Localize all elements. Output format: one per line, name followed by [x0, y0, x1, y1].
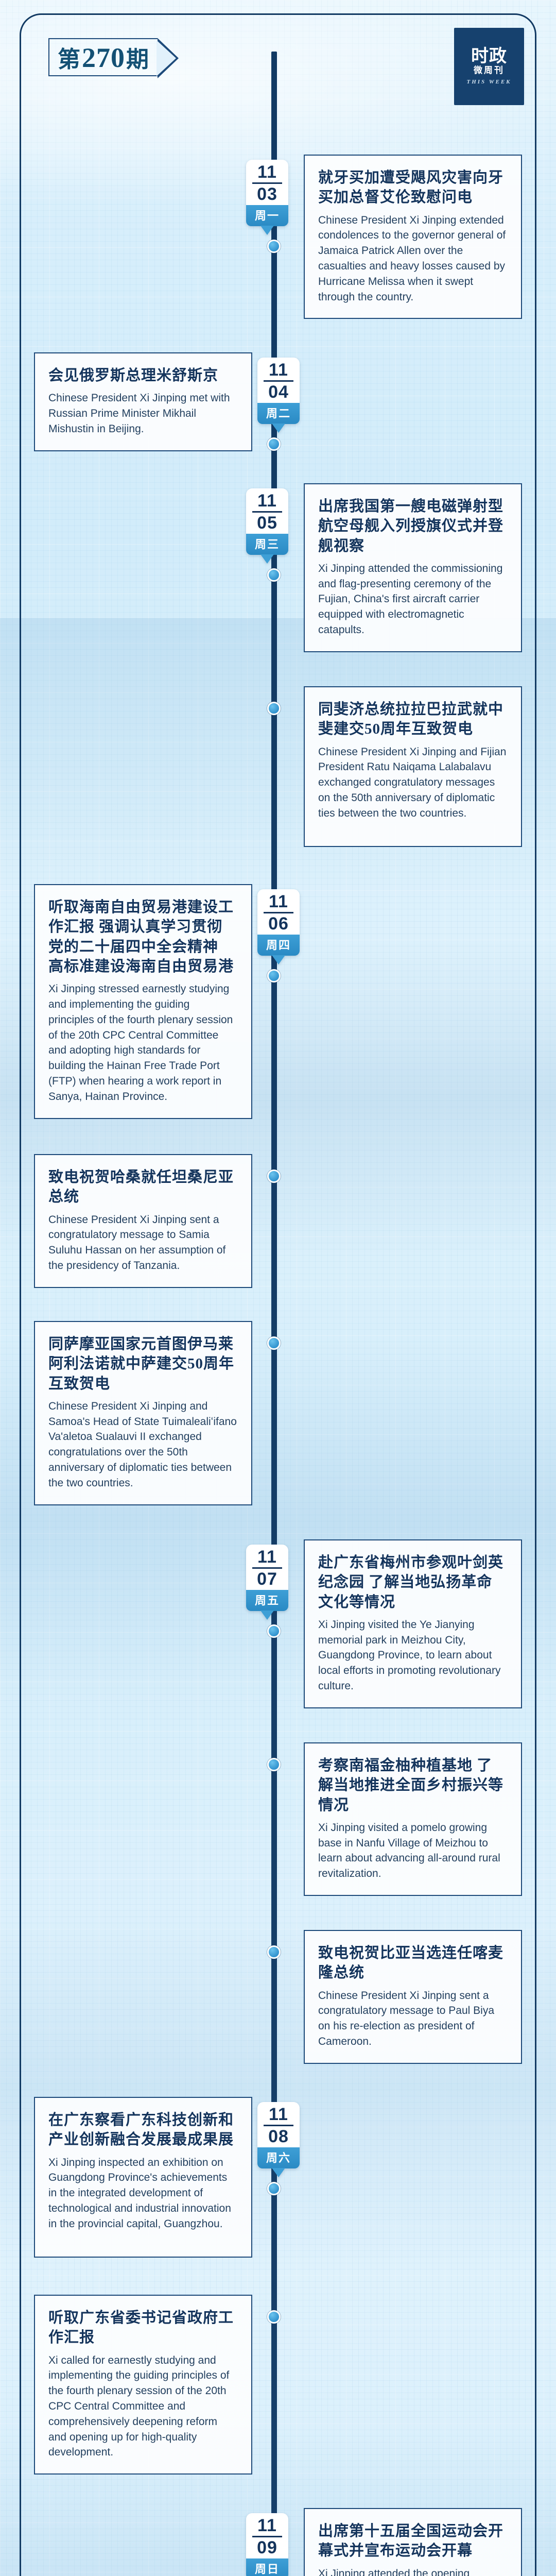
issue-prefix: 第: [58, 41, 81, 74]
card-title-cn: 赴广东省梅州市参观叶剑英纪念园 了解当地弘扬革命文化等情况: [318, 1553, 508, 1612]
date-divider: [252, 2536, 282, 2537]
date-chip-top: 1106: [257, 889, 300, 935]
timeline-node-dot: [267, 240, 281, 253]
issue-number: 270: [82, 42, 125, 74]
date-divider: [252, 1567, 282, 1569]
logo-english: THIS WEEK: [466, 79, 511, 85]
date-chip-pointer-icon: [260, 554, 274, 564]
card-title-cn: 致电祝贺比亚当选连任喀麦隆总统: [318, 1943, 508, 1983]
card-title-cn: 同斐济总统拉拉巴拉武就中斐建交50周年互致贺电: [318, 700, 508, 739]
date-weekday: 周四: [257, 935, 300, 956]
date-chip-top: 1105: [246, 488, 288, 534]
timeline-entry: 会见俄罗斯总理米舒斯京Chinese President Xi Jinping …: [0, 352, 556, 482]
date-month: 11: [246, 2517, 288, 2534]
timeline-card[interactable]: 考察南福金柚种植基地 了解当地推进全面乡村振兴等情况Xi Jinping vis…: [304, 1742, 522, 1896]
timeline-entry: 出席我国第一艘电磁弹射型航空母舰入列授旗仪式并登舰视察Xi Jinping at…: [0, 483, 556, 685]
card-body-en: Chinese President Xi Jinping and Fijian …: [318, 744, 508, 821]
issue-badge: 第270期: [48, 38, 158, 76]
date-chip: 1107周五: [246, 1545, 288, 1611]
card-body-en: Xi called for earnestly studying and imp…: [48, 2353, 238, 2461]
date-month: 11: [246, 492, 288, 510]
date-chip-pointer-icon: [272, 955, 285, 964]
timeline-node-dot: [267, 1336, 281, 1350]
card-body-en: Xi Jinping attended the commissioning an…: [318, 561, 508, 638]
timeline-node-dot: [267, 969, 281, 982]
timeline-node-dot: [267, 437, 281, 451]
date-chip: 1105周三: [246, 488, 288, 555]
card-body-en: Chinese President Xi Jinping met with Ru…: [48, 391, 238, 436]
card-body-en: Xi Jinping visited the Ye Jianying memor…: [318, 1617, 508, 1694]
timeline-card[interactable]: 赴广东省梅州市参观叶剑英纪念园 了解当地弘扬革命文化等情况Xi Jinping …: [304, 1539, 522, 1708]
date-day: 04: [257, 383, 300, 401]
logo-line-1: 时政: [471, 47, 507, 66]
card-body-en: Chinese President Xi Jinping sent a cong…: [48, 1212, 238, 1274]
timeline-card[interactable]: 就牙买加遭受飓风灾害向牙买加总督艾伦致慰问电Chinese President …: [304, 155, 522, 319]
timeline-node-dot: [267, 1945, 281, 1959]
brand-logo: 时政 微周刊 THIS WEEK: [454, 28, 524, 105]
card-body-en: Xi Jinping visited a pomelo growing base…: [318, 1820, 508, 1882]
issue-label: 第270期: [58, 41, 149, 74]
timeline-node-dot: [267, 1624, 281, 1638]
date-day: 05: [246, 514, 288, 532]
card-body-en: Xi Jinping stressed earnestly studying a…: [48, 981, 238, 1105]
date-month: 11: [257, 361, 300, 379]
logo-line-2: 微周刊: [471, 66, 507, 76]
date-day: 08: [257, 2128, 300, 2145]
date-chip-top: 1104: [257, 358, 300, 403]
card-body-en: Chinese President Xi Jinping sent a cong…: [318, 1988, 508, 2049]
date-weekday: 周三: [246, 534, 288, 555]
date-divider: [252, 511, 282, 513]
timeline-node-dot: [267, 2182, 281, 2195]
date-chip-pointer-icon: [272, 2168, 285, 2177]
date-divider: [264, 380, 293, 382]
timeline-entry: 致电祝贺哈桑就任坦桑尼亚总统Chinese President Xi Jinpi…: [0, 1154, 556, 1320]
timeline-card[interactable]: 同斐济总统拉拉巴拉武就中斐建交50周年互致贺电Chinese President…: [304, 686, 522, 847]
timeline-entry: 同斐济总统拉拉巴拉武就中斐建交50周年互致贺电Chinese President…: [0, 686, 556, 883]
timeline-card[interactable]: 致电祝贺比亚当选连任喀麦隆总统Chinese President Xi Jinp…: [304, 1930, 522, 2064]
card-body-en: Chinese President Xi Jinping extended co…: [318, 213, 508, 305]
timeline-card[interactable]: 听取海南自由贸易港建设工作汇报 强调认真学习贯彻党的二十届四中全会精神 高标准建…: [34, 884, 252, 1119]
date-chip-top: 1108: [257, 2102, 300, 2147]
timeline-card[interactable]: 在广东察看广东科技创新和产业创新融合发展最成果展Xi Jinping inspe…: [34, 2097, 252, 2258]
issue-suffix: 期: [126, 41, 149, 74]
date-chip-top: 1107: [246, 1545, 288, 1590]
timeline-card[interactable]: 致电祝贺哈桑就任坦桑尼亚总统Chinese President Xi Jinpi…: [34, 1154, 252, 1288]
date-weekday: 周五: [246, 1590, 288, 1611]
date-chip: 1108周六: [257, 2102, 300, 2168]
card-title-cn: 就牙买加遭受飓风灾害向牙买加总督艾伦致慰问电: [318, 168, 508, 208]
date-day: 09: [246, 2539, 288, 2556]
date-weekday: 周二: [257, 403, 300, 424]
date-weekday: 周六: [257, 2147, 300, 2168]
card-body-en: Chinese President Xi Jinping and Samoa's…: [48, 1399, 238, 1491]
timeline-entry: 听取广东省委书记省政府工作汇报Xi called for earnestly s…: [0, 2295, 556, 2507]
date-divider: [264, 2125, 293, 2126]
timeline-node-dot: [267, 702, 281, 715]
card-title-cn: 听取广东省委书记省政府工作汇报: [48, 2308, 238, 2348]
issue-badge-arrow-icon: [158, 38, 179, 78]
header: 第270期 时政 微周刊 THIS WEEK: [0, 0, 556, 155]
card-body-en: Xi Jinping inspected an exhibition on Gu…: [48, 2155, 238, 2232]
card-title-cn: 出席我国第一艘电磁弹射型航空母舰入列授旗仪式并登舰视察: [318, 497, 508, 556]
logo-chinese: 时政 微周刊: [471, 48, 507, 75]
date-month: 11: [257, 2106, 300, 2123]
date-divider: [252, 182, 282, 184]
timeline-entry: 考察南福金柚种植基地 了解当地推进全面乡村振兴等情况Xi Jinping vis…: [0, 1742, 556, 1929]
date-chip: 1106周四: [257, 889, 300, 956]
card-title-cn: 听取海南自由贸易港建设工作汇报 强调认真学习贯彻党的二十届四中全会精神 高标准建…: [48, 897, 238, 976]
date-chip-top: 1109: [246, 2513, 288, 2558]
date-chip: 1104周二: [257, 358, 300, 424]
timeline-node-dot: [267, 1758, 281, 1771]
timeline-card[interactable]: 出席第十五届全国运动会开幕式并宣布运动会开幕Xi Jinping attende…: [304, 2508, 522, 2576]
timeline-entry: 致电祝贺比亚当选连任喀麦隆总统Chinese President Xi Jinp…: [0, 1930, 556, 2096]
date-month: 11: [246, 1548, 288, 1566]
date-chip: 1109周日: [246, 2513, 288, 2576]
date-weekday: 周一: [246, 205, 288, 226]
date-day: 03: [246, 185, 288, 203]
date-weekday: 周日: [246, 2558, 288, 2576]
date-chip: 1103周一: [246, 160, 288, 226]
card-title-cn: 考察南福金柚种植基地 了解当地推进全面乡村振兴等情况: [318, 1756, 508, 1815]
timeline-card[interactable]: 听取广东省委书记省政府工作汇报Xi called for earnestly s…: [34, 2295, 252, 2475]
timeline-entry: 在广东察看广东科技创新和产业创新融合发展最成果展Xi Jinping inspe…: [0, 2097, 556, 2294]
card-title-cn: 同萨摩亚国家元首图伊马莱阿利法诺就中萨建交50周年互致贺电: [48, 1334, 238, 1394]
timeline-node-dot: [267, 1170, 281, 1183]
card-title-cn: 在广东察看广东科技创新和产业创新融合发展最成果展: [48, 2110, 238, 2150]
date-divider: [264, 912, 293, 913]
date-day: 07: [246, 1570, 288, 1588]
card-title-cn: 出席第十五届全国运动会开幕式并宣布运动会开幕: [318, 2521, 508, 2561]
date-day: 06: [257, 915, 300, 933]
timeline-entry: 赴广东省梅州市参观叶剑英纪念园 了解当地弘扬革命文化等情况Xi Jinping …: [0, 1539, 556, 1741]
timeline-entry: 听取海南自由贸易港建设工作汇报 强调认真学习贯彻党的二十届四中全会精神 高标准建…: [0, 884, 556, 1153]
date-chip-pointer-icon: [260, 1611, 274, 1620]
card-title-cn: 会见俄罗斯总理米舒斯京: [48, 366, 238, 385]
card-body-en: Xi Jinping attended the opening ceremony…: [318, 2566, 508, 2576]
date-month: 11: [257, 893, 300, 910]
date-chip-pointer-icon: [272, 423, 285, 433]
timeline-card[interactable]: 出席我国第一艘电磁弹射型航空母舰入列授旗仪式并登舰视察Xi Jinping at…: [304, 483, 522, 652]
card-title-cn: 致电祝贺哈桑就任坦桑尼亚总统: [48, 1167, 238, 1207]
infographic-page: 第270期 时政 微周刊 THIS WEEK 就牙买加遭受飓风灾害向牙买加总督艾…: [0, 0, 556, 2576]
date-chip-pointer-icon: [260, 226, 274, 235]
timeline-node-dot: [267, 2310, 281, 2324]
timeline-entry: 就牙买加遭受飓风灾害向牙买加总督艾伦致慰问电Chinese President …: [0, 155, 556, 351]
timeline-entry: 出席第十五届全国运动会开幕式并宣布运动会开幕Xi Jinping attende…: [0, 2508, 556, 2576]
timeline-card[interactable]: 同萨摩亚国家元首图伊马莱阿利法诺就中萨建交50周年互致贺电Chinese Pre…: [34, 1321, 252, 1505]
date-month: 11: [246, 163, 288, 181]
timeline-card[interactable]: 会见俄罗斯总理米舒斯京Chinese President Xi Jinping …: [34, 352, 252, 451]
timeline-entry: 同萨摩亚国家元首图伊马莱阿利法诺就中萨建交50周年互致贺电Chinese Pre…: [0, 1321, 556, 1538]
timeline-node-dot: [267, 568, 281, 582]
date-chip-top: 1103: [246, 160, 288, 205]
